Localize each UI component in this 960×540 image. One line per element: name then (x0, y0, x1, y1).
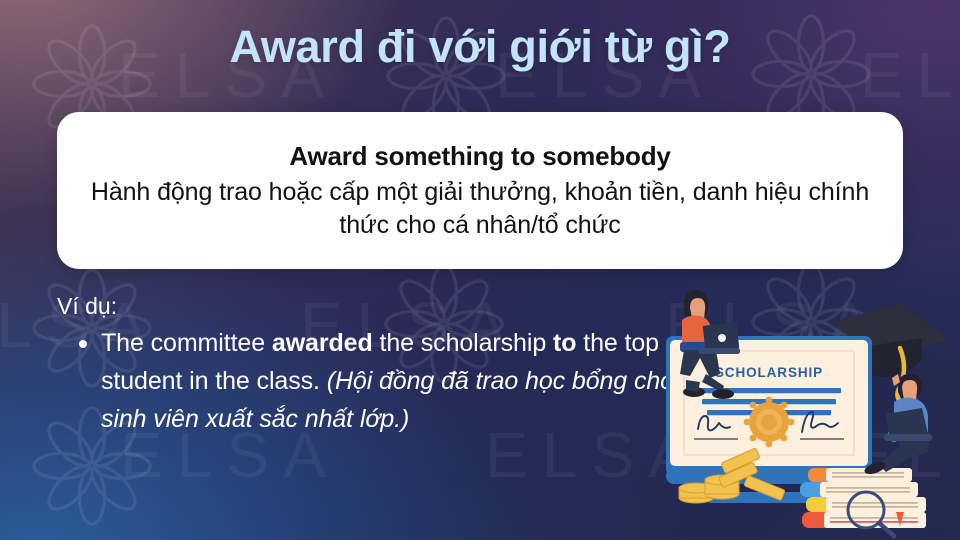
definition-body: Hành động trao hoặc cấp một giải thưởng,… (83, 176, 877, 243)
page-title: Award đi với giới từ gì? (0, 22, 960, 72)
bullet-dot-icon (79, 340, 87, 348)
scholarship-illustration: SCHOLARSHIP (660, 282, 960, 540)
book-orange (808, 468, 912, 482)
definition-card: Award something to somebody Hành động tr… (57, 112, 903, 269)
book-red (802, 512, 926, 528)
definition-title: Award something to somebody (289, 141, 670, 172)
certificate-label: SCHOLARSHIP (715, 365, 823, 380)
example-bullet-list: The committee awarded the scholarship to… (57, 324, 677, 438)
gold-seal-icon (744, 397, 795, 448)
book-stack (800, 468, 926, 536)
example-sentence: The committee awarded the scholarship to… (101, 329, 674, 433)
book-yellow (806, 497, 926, 512)
slide-canvas: ELSA ELSA ELSA ELSA ELSA ELSA ELSA ELSA … (0, 0, 960, 540)
example-block: Ví dụ: The committee awarded the scholar… (57, 292, 677, 438)
example-label: Ví dụ: (57, 292, 677, 321)
list-item: The committee awarded the scholarship to… (57, 324, 677, 438)
